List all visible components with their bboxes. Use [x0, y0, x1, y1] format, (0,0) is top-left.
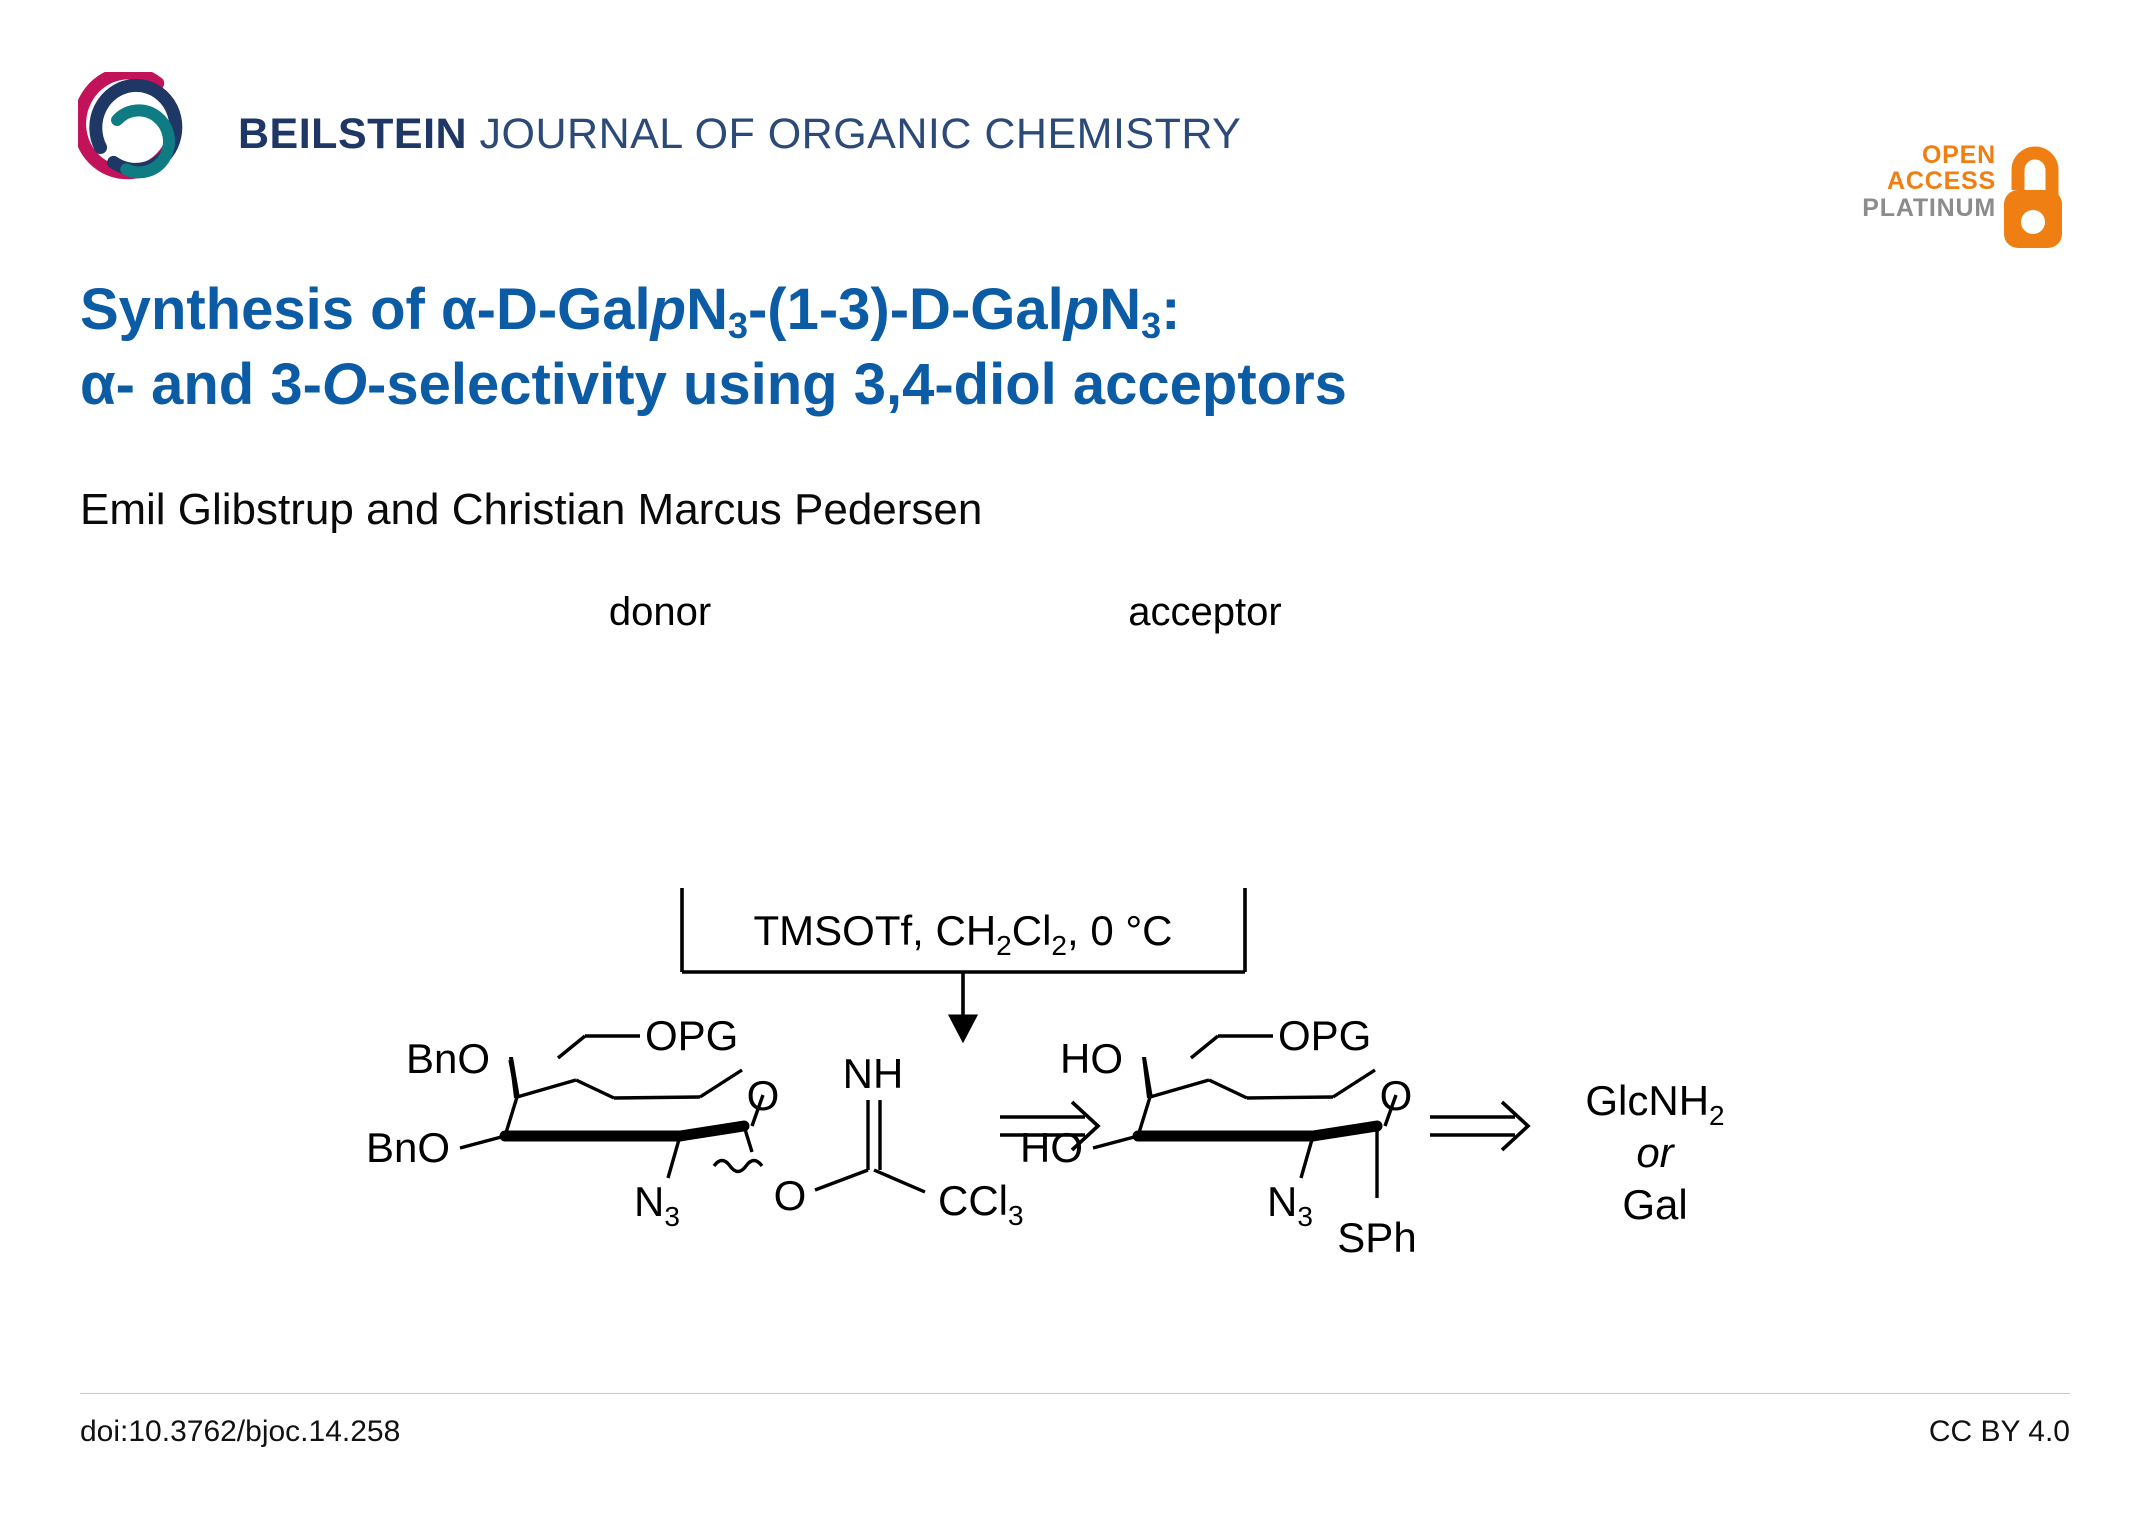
oa-line-open: OPEN	[1862, 142, 1996, 168]
donor-anomeric-wavy-bond	[714, 1161, 762, 1172]
imidate-nh-label: NH	[843, 1050, 904, 1097]
title-line-2: α- and 3-O-selectivity using 3,4-diol ac…	[80, 347, 1880, 422]
page-title: Synthesis of α-D-GalpN3-(1-3)-D-GalpN3: …	[80, 272, 1880, 423]
brand-journal-name: JOURNAL OF ORGANIC CHEMISTRY	[467, 110, 1241, 158]
acceptor-o3-label: HO	[1020, 1124, 1083, 1171]
license-text: CC BY 4.0	[1929, 1415, 2070, 1449]
title-seg-5: :	[1161, 277, 1180, 342]
precursor-gal: Gal	[1622, 1181, 1687, 1228]
trichloroacetimidate-group	[815, 1100, 925, 1192]
scheme-svg: donor	[0, 570, 2150, 1360]
acceptor-structure	[1093, 1036, 1396, 1198]
acceptor-sph-label: SPh	[1337, 1214, 1416, 1261]
donor-anomeric-oxygen: O	[774, 1172, 807, 1219]
precursor-or: or	[1636, 1129, 1675, 1176]
oa-line-access: ACCESS	[1862, 168, 1996, 194]
reaction-scheme: donor	[0, 570, 2150, 1360]
brand-beilstein: BEILSTEIN	[238, 110, 467, 158]
open-access-text: OPEN ACCESS PLATINUM	[1862, 142, 1996, 221]
acceptor-o6-label: OPG	[1278, 1012, 1371, 1059]
donor-ring-oxygen: O	[747, 1072, 780, 1119]
donor-label: donor	[609, 590, 711, 634]
title-seg-2: N	[686, 277, 728, 342]
title-italic-p-1: p	[651, 277, 686, 342]
doi-text: doi:10.3762/bjoc.14.258	[80, 1415, 400, 1449]
oa-line-platinum: PLATINUM	[1862, 195, 1996, 221]
title-sub-2: 3	[1141, 305, 1161, 346]
donor-azide-label: N3	[634, 1178, 680, 1232]
beilstein-logo-icon	[78, 72, 196, 184]
open-lock-icon	[1998, 144, 2070, 252]
title-seg-1: Synthesis of α-D-Gal	[80, 277, 651, 342]
title-sub-1: 3	[728, 305, 748, 346]
title-seg-3: -(1-3)-D-Gal	[748, 277, 1064, 342]
donor-o4-label: BnO	[406, 1035, 490, 1082]
acceptor-o4-label: HO	[1060, 1035, 1123, 1082]
donor-o6-label: OPG	[645, 1012, 738, 1059]
page-header: BEILSTEIN JOURNAL OF ORGANIC CHEMISTRY O…	[0, 0, 2150, 190]
title-seg-4: N	[1099, 277, 1141, 342]
retro-arrow-2-icon	[1430, 1102, 1528, 1150]
title-italic-o: O	[322, 352, 367, 417]
author-list: Emil Glibstrup and Christian Marcus Pede…	[80, 485, 982, 535]
journal-title: BEILSTEIN JOURNAL OF ORGANIC CHEMISTRY	[238, 110, 1241, 159]
precursor-glcnh2: GlcNH2	[1585, 1077, 1724, 1131]
title-seg-7: -selectivity using 3,4-diol acceptors	[367, 352, 1347, 417]
open-access-badge: OPEN ACCESS PLATINUM	[1843, 70, 2088, 185]
acceptor-azide-label: N3	[1267, 1178, 1313, 1232]
acceptor-label: acceptor	[1128, 590, 1281, 634]
acceptor-ring-oxygen: O	[1380, 1072, 1413, 1119]
title-italic-p-2: p	[1064, 277, 1099, 342]
donor-o3-label: BnO	[366, 1124, 450, 1171]
reaction-conditions-label: TMSOTf, CH2Cl2, 0 °C	[754, 907, 1173, 961]
title-line-1: Synthesis of α-D-GalpN3-(1-3)-D-GalpN3:	[80, 272, 1880, 347]
imidate-ccl3-label: CCl3	[938, 1177, 1024, 1231]
footer-divider	[80, 1393, 2070, 1394]
title-seg-6: α- and 3-	[80, 352, 322, 417]
